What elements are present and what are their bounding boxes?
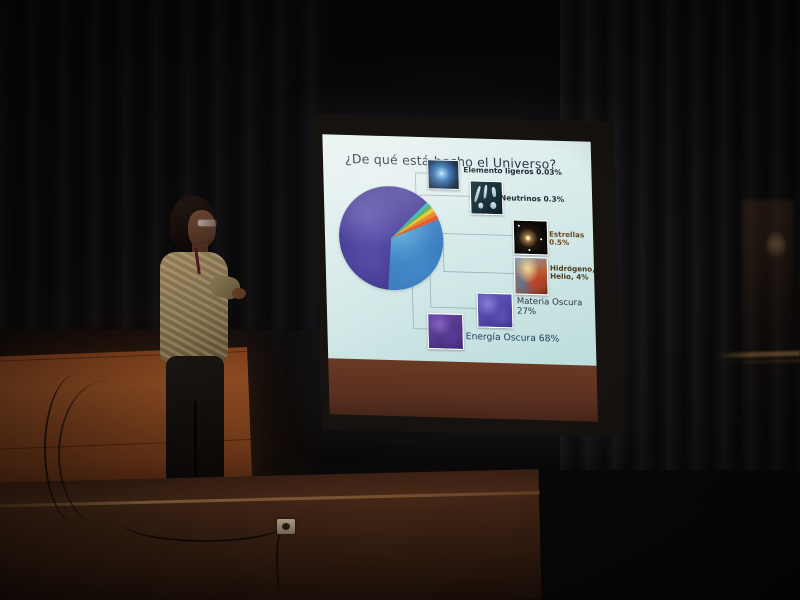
stage-cable-3 [120,500,290,542]
presenter-sweater [160,252,228,362]
presenter-hand [232,288,246,299]
screen-lower-band [328,356,598,421]
label-dark-energy: Energía Oscura 68% [466,332,560,345]
presentation-photo-scene: ¿De qué está hecho el Universo? [0,0,800,600]
power-outlet [277,519,295,534]
label-light-elements: Elemento ligeros 0.03% [463,166,562,177]
label-neutrinos: Neutrinos 0.3% [500,194,564,204]
slide-content: ¿De qué está hecho el Universo? [322,134,596,365]
stage-cable-2 [58,380,156,528]
gas-nebula-thumbnail [514,257,549,296]
label-hydrogen-helium: Hidrógeno, Helio, 4% [550,265,594,282]
right-wall-structure [742,200,794,415]
wall-lamp-glow [766,232,786,262]
label-dark-matter: Materia Oscura 27% [517,298,588,319]
presenter-face [188,210,216,248]
dark-matter-web-thumbnail [477,292,514,328]
label-stars: Estrellas 0.5% [549,231,593,248]
screen-surface: ¿De qué está hecho el Universo? [322,134,597,409]
pie-body [338,185,445,292]
earth-thumbnail [427,159,460,190]
presenter-glasses [198,220,216,226]
projection-screen: ¿De qué está hecho el Universo? [318,118,618,433]
dark-energy-web-thumbnail [427,313,464,350]
neutrino-tracks-thumbnail [470,180,504,215]
star-thumbnail [513,220,549,256]
stage-cable-4 [276,530,288,590]
universe-composition-pie [338,185,445,292]
